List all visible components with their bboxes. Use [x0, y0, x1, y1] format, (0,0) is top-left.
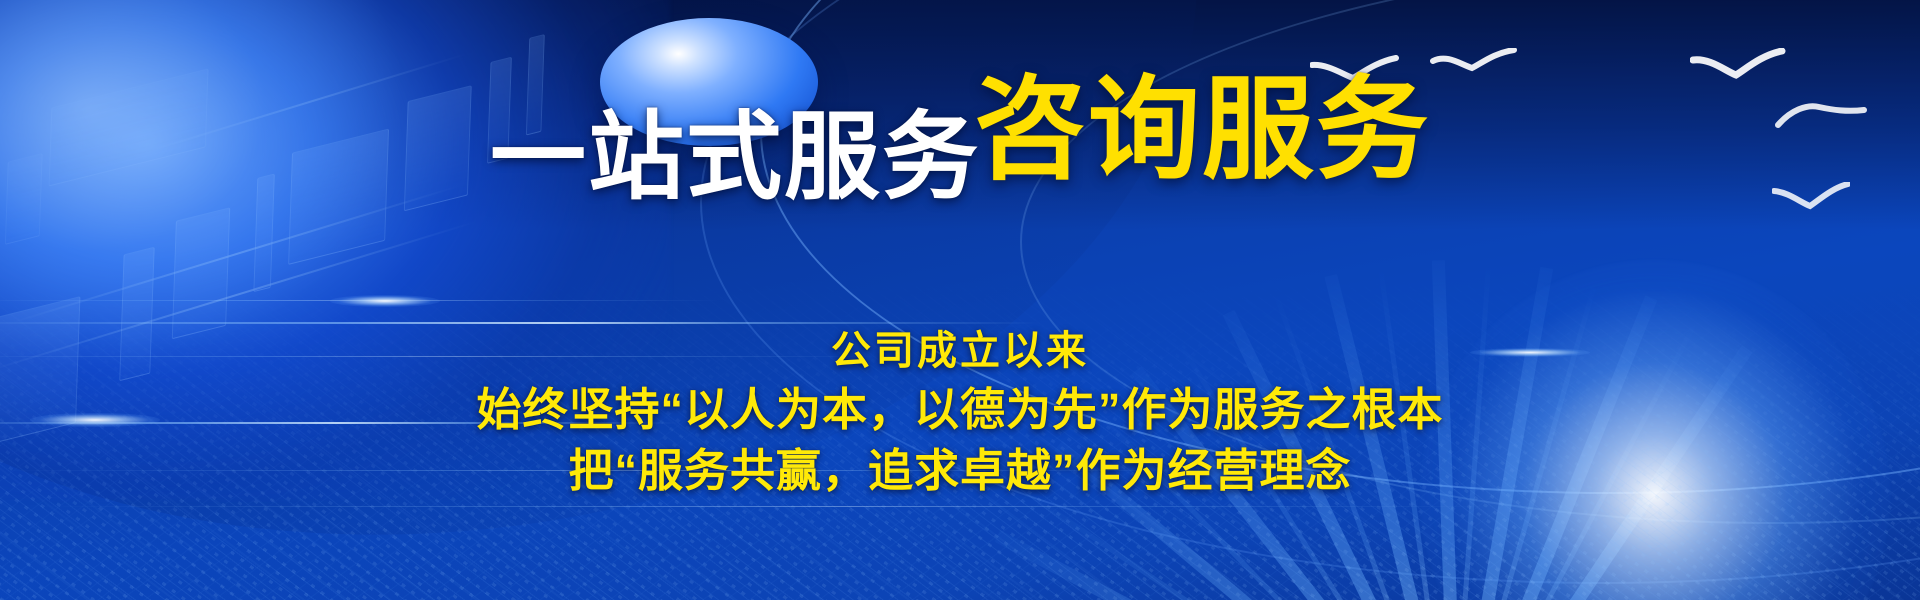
light-streak-1: [0, 322, 1040, 324]
subtitle-line-3: 把“服务共赢，追求卓越”作为经营理念: [0, 442, 1920, 501]
headline: 一站式服务咨询服务: [0, 96, 1920, 208]
banner-root: 一站式服务咨询服务 公司成立以来 始终坚持“以人为本，以德为先”作为服务之根本 …: [0, 0, 1920, 600]
subtitle-line-2: 始终坚持“以人为本，以德为先”作为服务之根本: [0, 381, 1920, 440]
subtitle-line-1: 公司成立以来: [0, 325, 1920, 377]
seagull-icon-3: [1690, 48, 1786, 84]
seagull-icon-2: [1430, 48, 1518, 82]
headline-yellow-text: 咨询服务: [974, 67, 1430, 192]
lens-flare-1: [330, 295, 440, 307]
subtitle-block: 公司成立以来 始终坚持“以人为本，以德为先”作为服务之根本 把“服务共赢，追求卓…: [0, 325, 1920, 500]
headline-white-text: 一站式服务: [490, 104, 980, 211]
light-streak-5: [40, 506, 1500, 507]
